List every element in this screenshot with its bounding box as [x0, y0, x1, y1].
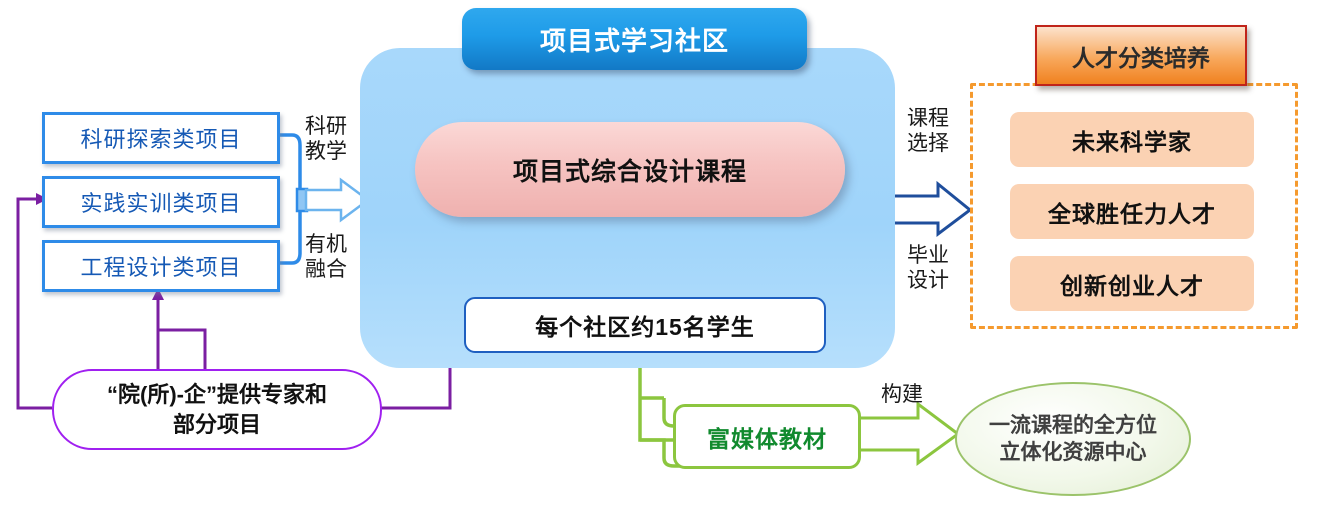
talent-header: 人才分类培养	[1035, 25, 1247, 86]
project-box-engineering: 工程设计类项目	[42, 240, 280, 292]
label-course-selection-line1: 课程	[900, 106, 956, 131]
label-organic-fusion: 有机 融合	[298, 232, 354, 282]
label-graduation-design-line1: 毕业	[900, 243, 956, 268]
institute-line1: “院(所)-企”提供专家和	[107, 380, 327, 410]
community-title: 项目式学习社区	[462, 8, 807, 70]
label-organic-fusion-line2: 融合	[298, 257, 354, 282]
arrow-media-to-resource	[855, 404, 958, 463]
talent-box-innovation-entrepreneur: 创新创业人才	[1010, 256, 1254, 311]
arrow-projects-to-community	[306, 180, 368, 220]
course-pill: 项目式综合设计课程	[415, 122, 845, 217]
students-count-box: 每个社区约15名学生	[464, 297, 826, 353]
label-course-selection: 课程 选择	[900, 106, 956, 156]
label-graduation-design: 毕业 设计	[900, 243, 956, 293]
label-organic-fusion-line1: 有机	[298, 232, 354, 257]
label-research-teaching: 科研 教学	[298, 114, 354, 164]
arrow-community-to-talent	[893, 184, 970, 234]
label-graduation-design-line2: 设计	[900, 268, 956, 293]
project-box-research: 科研探索类项目	[42, 112, 280, 164]
resource-center-line1: 一流课程的全方位	[989, 412, 1157, 439]
label-course-selection-line2: 选择	[900, 131, 956, 156]
institute-line2: 部分项目	[173, 410, 261, 440]
project-bracket-stub	[297, 189, 307, 211]
resource-center-line2: 立体化资源中心	[1000, 439, 1147, 466]
resource-center-ellipse: 一流课程的全方位 立体化资源中心	[955, 382, 1191, 496]
talent-box-future-scientist: 未来科学家	[1010, 112, 1254, 167]
project-box-practice: 实践实训类项目	[42, 176, 280, 228]
institute-enterprise-box: “院(所)-企”提供专家和 部分项目	[52, 369, 382, 450]
diagram-canvas: 项目式学习社区 项目式综合设计课程 每个社区约15名学生 科研探索类项目 实践实…	[0, 0, 1322, 511]
label-construct: 构建	[872, 382, 932, 407]
rich-media-textbook-box: 富媒体教材	[673, 404, 861, 469]
talent-box-global-competence: 全球胜任力人才	[1010, 184, 1254, 239]
label-research-teaching-line1: 科研	[298, 114, 354, 139]
line-institute-to-practice	[18, 199, 52, 408]
line-institute-to-engineering	[158, 330, 205, 369]
label-research-teaching-line2: 教学	[298, 139, 354, 164]
